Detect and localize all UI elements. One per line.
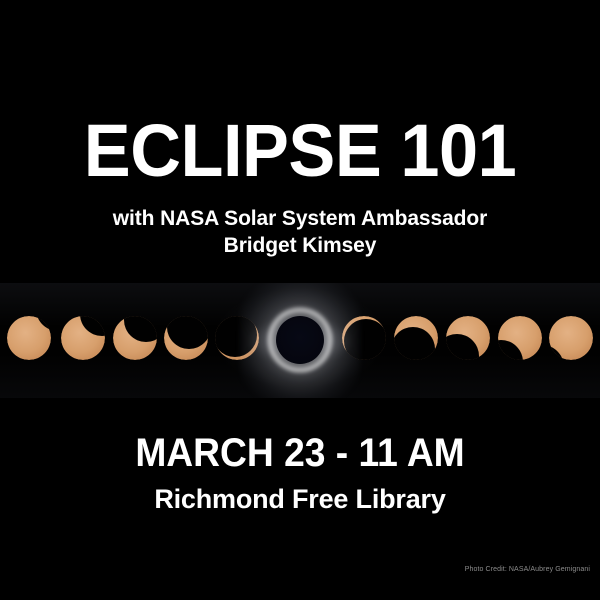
partial-phase-11 — [549, 316, 593, 360]
title-block: ECLIPSE 101 — [0, 112, 600, 190]
eclipse-sequence-image — [0, 283, 600, 398]
page-title: ECLIPSE 101 — [15, 112, 585, 190]
date-block: MARCH 23 - 11 AM — [0, 430, 600, 476]
partial-phase-3 — [113, 316, 157, 360]
venue-block: Richmond Free Library — [0, 483, 600, 516]
partial-phase-2 — [61, 316, 105, 360]
photo-credit: Photo Credit: NASA/Aubrey Gemignani — [465, 565, 590, 575]
partial-phase-8 — [394, 316, 438, 360]
eclipse-event-poster: ECLIPSE 101 with NASA Solar System Ambas… — [0, 0, 600, 600]
partial-phase-10 — [498, 316, 542, 360]
totality-phase — [230, 283, 370, 398]
subtitle-block: with NASA Solar System Ambassador Bridge… — [0, 205, 600, 259]
partial-phase-9 — [446, 316, 490, 360]
partial-phase-1 — [7, 316, 51, 360]
event-date-time: MARCH 23 - 11 AM — [21, 430, 579, 476]
subtitle-line-1: with NASA Solar System Ambassador — [0, 205, 600, 232]
moon-disk-totality — [276, 316, 324, 364]
event-venue: Richmond Free Library — [0, 483, 600, 516]
partial-phase-4 — [164, 316, 208, 360]
subtitle-line-2: Bridget Kimsey — [0, 232, 600, 259]
